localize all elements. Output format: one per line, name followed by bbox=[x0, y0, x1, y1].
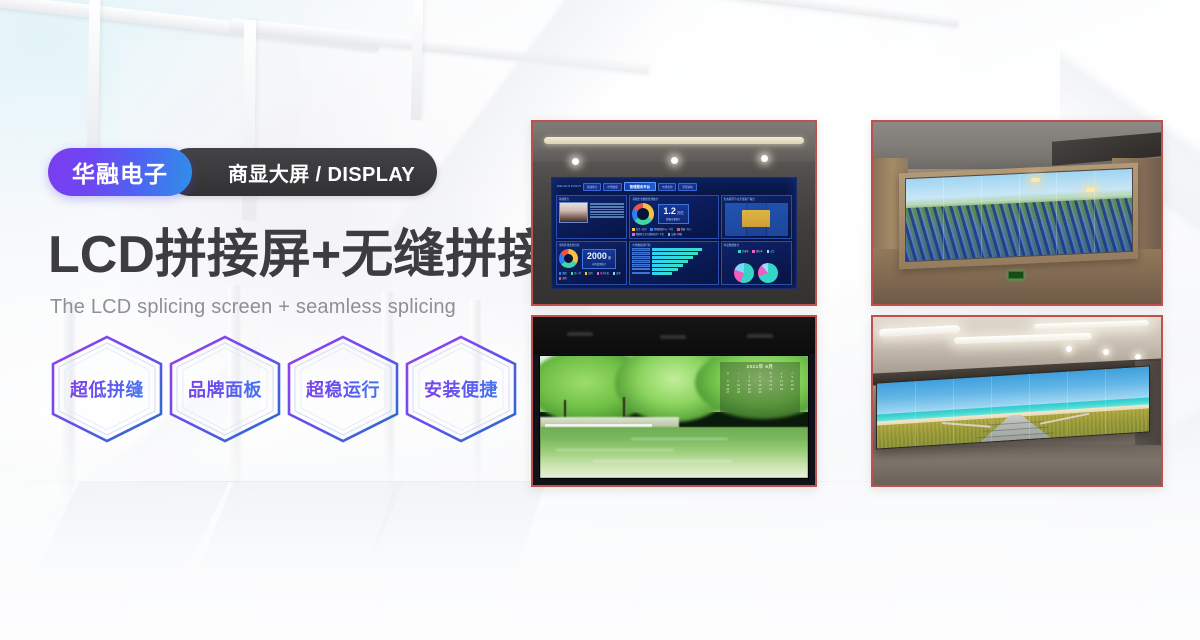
legend-item: 物联网工业互联网应用 / 平台 bbox=[632, 232, 664, 236]
exit-sign bbox=[1008, 271, 1024, 279]
banner-content: 商显大屏 / DISPLAY 华融电子 LCD拼接屏+无缝拼接 The LCD … bbox=[48, 0, 548, 640]
panel-legend: 制造 新一代 应用 电子信息 软件 其他 bbox=[559, 269, 624, 280]
panel-legend: 综合 / 应用 智能数据中心 / 平台 数据 / 中心 物联网工业互联网应用 /… bbox=[632, 225, 715, 236]
calendar-weekday: 日 bbox=[723, 371, 733, 375]
screen-bezel-seam bbox=[1018, 174, 1019, 256]
donut-chart bbox=[559, 249, 578, 268]
water-reflection bbox=[631, 438, 728, 440]
calendar-day-grid: 1 2 3 4 5 6 7 8 9 10 11 12 13 14 bbox=[723, 376, 798, 394]
calendar-day: 9 bbox=[755, 380, 765, 383]
dashboard-panel-capability: 基础能力 bbox=[556, 195, 627, 239]
legend-item: 软件 bbox=[613, 271, 621, 275]
dashboard-tab: 市场数据 bbox=[603, 183, 621, 191]
legend-item: 新一代 bbox=[571, 271, 581, 275]
pie-chart bbox=[734, 263, 754, 283]
bezel-glint bbox=[567, 332, 593, 336]
calendar-title: 2021年 6月 bbox=[723, 364, 798, 370]
calendar-day: 14 bbox=[733, 384, 743, 387]
bar-row bbox=[632, 260, 715, 263]
dashboard-panel-annual: 年度数据统计 完成率 增长率 占比 bbox=[721, 241, 793, 285]
dashboard-header: 2021-09-13 10:51:27 基础能力 市场数据 管理服务平台 市场监… bbox=[555, 180, 793, 194]
feature-hexagon-label: 安装便捷 bbox=[402, 333, 520, 445]
dashboard-panel-ecosystem-flow: 生态圈环节业务链路产输出 bbox=[721, 195, 793, 239]
calendar-weekday: 三 bbox=[755, 371, 765, 375]
bar-chart bbox=[632, 246, 715, 275]
photo-inner: 2021年 6月 日 一 二 三 四 五 六 1 2 bbox=[533, 317, 815, 485]
calendar-day: 17 bbox=[766, 384, 776, 387]
calendar-weekday: 二 bbox=[744, 371, 754, 375]
panel-title: 市场数据排行榜 bbox=[632, 243, 650, 247]
screen-bezel-seam bbox=[1056, 172, 1057, 254]
feature-hexagon-label: 超低拼缝 bbox=[48, 333, 166, 445]
calendar-weekday-row: 日 一 二 三 四 五 六 bbox=[723, 371, 798, 375]
calendar-day: 7 bbox=[733, 380, 743, 383]
panel-title: 基础能力 bbox=[559, 197, 569, 201]
calendar-day: 10 bbox=[766, 380, 776, 383]
screen-bezel-seam bbox=[943, 177, 944, 259]
ceiling-spotlight bbox=[1066, 346, 1072, 352]
flow-core-node bbox=[742, 210, 770, 227]
water-reflection bbox=[556, 449, 674, 451]
legend-item: 完成率 bbox=[738, 249, 748, 253]
photo-inner bbox=[873, 317, 1161, 485]
bar-row bbox=[632, 252, 715, 255]
screen-bezel-seam bbox=[1105, 369, 1106, 434]
thumbnail-image bbox=[559, 202, 588, 223]
lobby-floor bbox=[873, 445, 1161, 485]
wall-lamp bbox=[1086, 188, 1095, 192]
calendar-weekday: 五 bbox=[776, 371, 786, 375]
bezel-glint bbox=[747, 334, 773, 338]
feature-hexagon-1: 超低拼缝 bbox=[48, 333, 166, 445]
ceiling-spotlight bbox=[671, 157, 678, 164]
metric-caption: 数据总量统计 bbox=[666, 217, 680, 221]
bar-row bbox=[632, 256, 715, 259]
panel-title: 市场区域监测分析 bbox=[559, 243, 580, 247]
metric-value: 1.2 bbox=[663, 207, 676, 216]
panel-thumbnail bbox=[559, 202, 588, 236]
feature-hexagon-4: 安装便捷 bbox=[402, 333, 520, 445]
legend-item: 智能数据中心 / 平台 bbox=[650, 227, 673, 231]
bezel-glint bbox=[660, 335, 686, 339]
banner-stage: 商显大屏 / DISPLAY 华融电子 LCD拼接屏+无缝拼接 The LCD … bbox=[0, 0, 1200, 640]
bar-row bbox=[632, 272, 715, 275]
calendar-day: 25 bbox=[776, 388, 786, 391]
calendar-day: 6 bbox=[723, 380, 733, 383]
calendar-day: 16 bbox=[755, 384, 765, 387]
photo-inner bbox=[873, 122, 1161, 304]
page-subtitle: The LCD splicing screen + seamless splic… bbox=[50, 296, 456, 319]
calendar-day: 15 bbox=[744, 384, 754, 387]
ceiling-cove-light bbox=[544, 137, 803, 144]
legend-item: 其他 bbox=[559, 276, 567, 280]
calendar-day: 24 bbox=[766, 388, 776, 391]
metric-unit: 家 bbox=[608, 255, 611, 260]
dashboard-tab: 管理系统 bbox=[678, 183, 696, 191]
legend-item: 增长率 bbox=[752, 249, 762, 253]
feature-hexagon-list: 超低拼缝 品牌面板 bbox=[48, 333, 528, 445]
calendar-day: 26 bbox=[787, 388, 797, 391]
bar-row bbox=[632, 268, 715, 271]
flow-diagram bbox=[725, 203, 789, 236]
feature-hexagon-label: 超稳运行 bbox=[284, 333, 402, 445]
legend-item: 电子信息 bbox=[597, 271, 609, 275]
product-photo-willow-lake-video-wall: 2021年 6月 日 一 二 三 四 五 六 1 2 bbox=[531, 315, 817, 487]
product-photo-solar-farm-video-wall bbox=[871, 120, 1163, 306]
legend-item: 占比 bbox=[767, 249, 775, 253]
product-photo-dashboard-video-wall: 2021-09-13 10:51:27 基础能力 市场数据 管理服务平台 市场监… bbox=[531, 120, 817, 306]
screen-bezel-seam bbox=[1029, 374, 1030, 439]
metric-caption: 市场监测统计 bbox=[592, 262, 606, 266]
screen-bezel-seam bbox=[981, 176, 982, 258]
calendar-day: 8 bbox=[744, 380, 754, 383]
calendar-weekday: 一 bbox=[733, 371, 743, 375]
dashboard-tab: 市场监测 bbox=[658, 183, 676, 191]
bar-row bbox=[632, 248, 715, 251]
calendar-day: 13 bbox=[723, 384, 733, 387]
metric-value: 2000 bbox=[587, 252, 607, 261]
photo-inner: 2021-09-13 10:51:27 基础能力 市场数据 管理服务平台 市场监… bbox=[533, 122, 815, 304]
screen-bezel-seam bbox=[953, 379, 954, 444]
calendar-day: 28 bbox=[733, 391, 743, 394]
screen-bezel-seam bbox=[915, 381, 916, 446]
legend-item: 综合 / 应用 bbox=[632, 227, 646, 231]
screen-bezel-seam bbox=[991, 376, 992, 441]
calendar-weekday: 六 bbox=[787, 371, 797, 375]
video-wall-screen bbox=[905, 168, 1133, 262]
calendar-day: 27 bbox=[723, 391, 733, 394]
calendar-day: 29 bbox=[744, 391, 754, 394]
panel-title: 年度数据统计 bbox=[724, 243, 740, 247]
feature-hexagon-label: 品牌面板 bbox=[166, 333, 284, 445]
legend-item: 制造 bbox=[559, 271, 567, 275]
panel-legend: 完成率 增长率 占比 bbox=[724, 246, 790, 253]
dashboard-header-title: 管理服务平台 bbox=[624, 182, 656, 191]
pie-chart-group bbox=[724, 253, 790, 285]
screen-bezel-seam bbox=[1067, 372, 1068, 437]
calendar-day: 11 bbox=[776, 380, 786, 383]
dashboard-panel-ranking: 市场数据排行榜 bbox=[629, 241, 718, 285]
page-title: LCD拼接屏+无缝拼接 bbox=[48, 226, 549, 286]
metric-box: 2000 家 市场监测统计 bbox=[582, 249, 616, 269]
metric-box: 1.2 万亿 数据总量统计 bbox=[658, 204, 688, 224]
calendar-weekday: 四 bbox=[766, 371, 776, 375]
category-badge: 商显大屏 / DISPLAY bbox=[166, 148, 437, 196]
brand-badge: 华融电子 bbox=[48, 148, 192, 196]
pie-chart bbox=[758, 263, 778, 283]
panel-title: 生态圈环节业务链路产输出 bbox=[724, 197, 755, 201]
bar-row bbox=[632, 264, 715, 267]
donut-chart bbox=[632, 203, 654, 225]
feature-hexagon-2: 品牌面板 bbox=[166, 333, 284, 445]
legend-item: 应用 bbox=[585, 271, 593, 275]
dashboard-panel-regional: 市场区域监测分析 2000 家 市场监测统计 bbox=[556, 241, 627, 285]
dashboard-timestamp: 2021-09-13 10:51:27 bbox=[557, 185, 581, 188]
calendar-overlay: 2021年 6月 日 一 二 三 四 五 六 1 2 bbox=[720, 362, 801, 421]
calendar-day: 12 bbox=[787, 380, 797, 383]
panel-text-lines bbox=[590, 202, 624, 236]
scene-water bbox=[540, 427, 809, 478]
feature-hexagon-3: 超稳运行 bbox=[284, 333, 402, 445]
product-photo-beach-boardwalk-video-wall bbox=[871, 315, 1163, 487]
legend-item: 设备 / 网络 bbox=[668, 232, 682, 236]
dashboard-panel-grid: 基础能力 基础企业数据监测统计 bbox=[555, 194, 793, 286]
metric-unit: 万亿 bbox=[677, 210, 684, 215]
calendar-day: 19 bbox=[787, 384, 797, 387]
water-reflection bbox=[593, 460, 733, 462]
screen-bezel-seam bbox=[1094, 170, 1095, 252]
calendar-day: 18 bbox=[776, 384, 786, 387]
dashboard-panel-enterprise-stats: 基础企业数据监测统计 1.2 万亿 数据总量统计 bbox=[629, 195, 718, 239]
legend-item: 数据 / 中心 bbox=[677, 227, 691, 231]
panel-title: 基础企业数据监测统计 bbox=[632, 197, 658, 201]
lcd-screen: 2021年 6月 日 一 二 三 四 五 六 1 2 bbox=[539, 355, 810, 479]
calendar-day: 30 bbox=[755, 391, 765, 394]
dashboard-screen: 2021-09-13 10:51:27 基础能力 市场数据 管理服务平台 市场监… bbox=[551, 177, 796, 290]
dashboard-tab: 基础能力 bbox=[583, 183, 601, 191]
